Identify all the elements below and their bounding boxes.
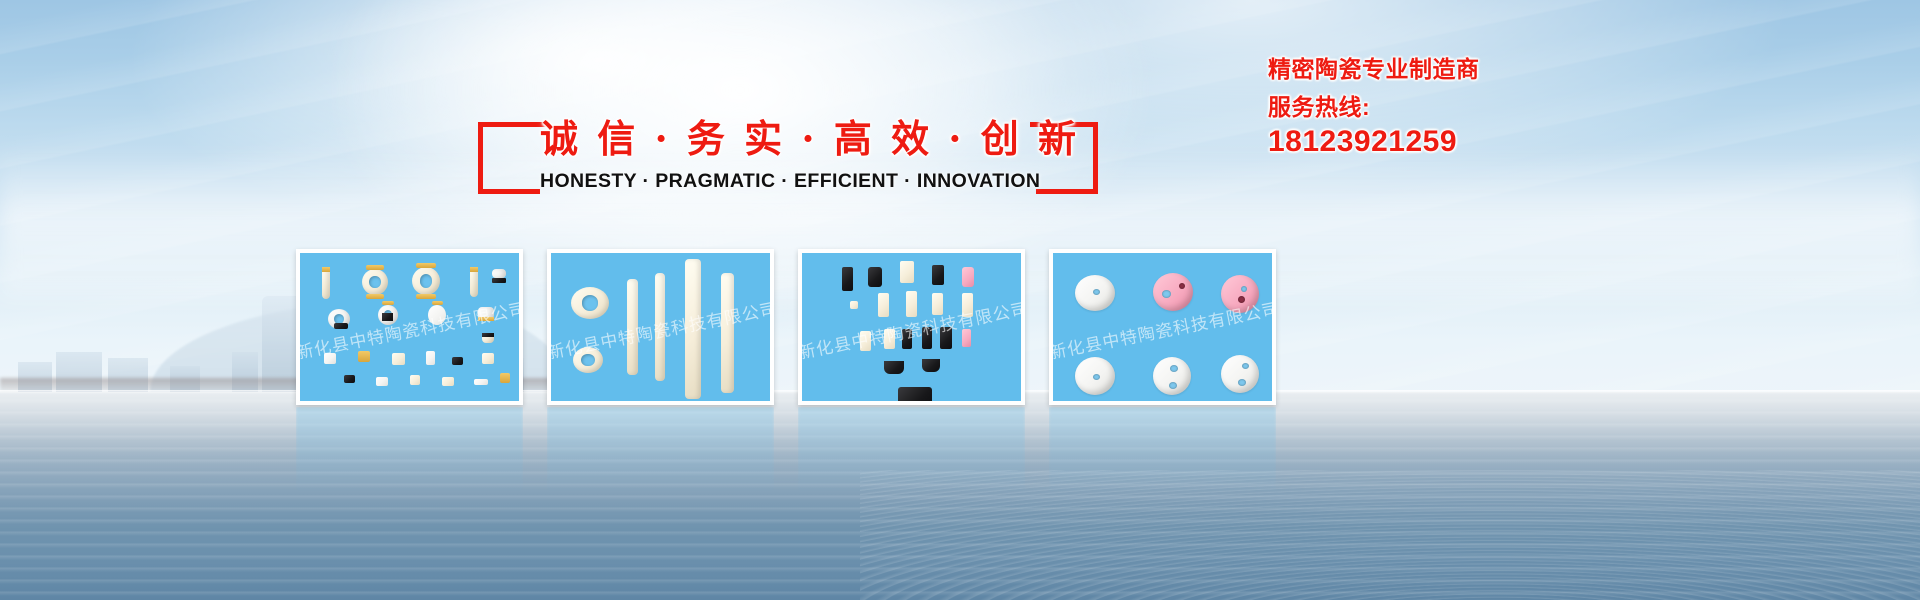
product-panel-group: 新化县中特陶瓷科技有限公司 新化县中特陶瓷科技有限公司 [296,249,1276,405]
product-panel-3[interactable]: 新化县中特陶瓷科技有限公司 [798,249,1025,405]
slogan-chinese: 诚 信 · 务 实 · 高 效 · 创 新 [540,108,1036,163]
panel-4-reflection [1049,407,1276,493]
hero-banner: 诚 信 · 务 实 · 高 效 · 创 新 HONESTY · PRAGMATI… [0,0,1920,600]
bracket-left-icon [478,122,546,194]
product-panel-1[interactable]: 新化县中特陶瓷科技有限公司 [296,249,523,405]
slogan-english: HONESTY · PRAGMATIC · EFFICIENT · INNOVA… [540,170,1036,193]
panel-reflections [296,407,1276,493]
panel-1-reflection [296,407,523,493]
hotline-phone-number[interactable]: 18123921259 [1268,124,1908,160]
panel-3-reflection [798,407,1025,493]
company-tagline: 精密陶瓷专业制造商 [1268,54,1908,84]
hotline-label: 服务热线: [1268,91,1908,123]
contact-block: 精密陶瓷专业制造商 服务热线: 18123921259 [1268,54,1908,160]
product-panel-4[interactable]: 新化县中特陶瓷科技有限公司 [1049,249,1276,405]
slogan-block: 诚 信 · 务 实 · 高 效 · 创 新 HONESTY · PRAGMATI… [478,108,1098,200]
panel-2-reflection [547,407,774,493]
product-panel-2[interactable]: 新化县中特陶瓷科技有限公司 [547,249,774,405]
